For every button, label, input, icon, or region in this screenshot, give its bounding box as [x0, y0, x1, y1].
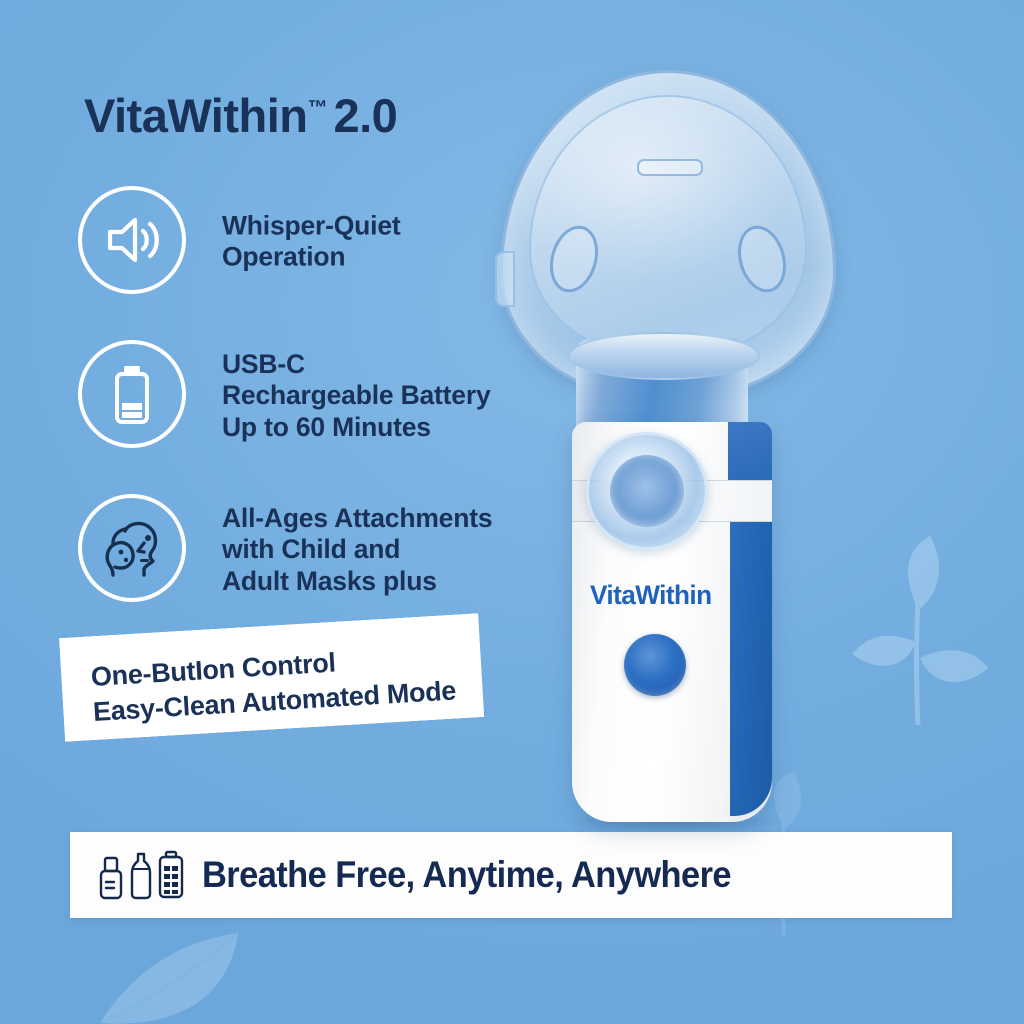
- page-title: VitaWithin™2.0: [84, 92, 397, 139]
- version-number: 2.0: [333, 89, 397, 142]
- battery-icon: [107, 363, 157, 425]
- ribbon-banner: One-ButIon Control Easy-Clean Automated …: [62, 628, 492, 758]
- trademark-symbol: ™: [307, 97, 327, 119]
- feature-icon-circle: [78, 340, 186, 448]
- product-logo: VitaWithin: [590, 580, 755, 611]
- feature-item-attachments: All-Ages Attachments with Child and Adul…: [78, 494, 518, 606]
- mask-side-tab: [495, 251, 515, 307]
- tagline-icon-group: [98, 850, 184, 900]
- feature-list: Whisper-Quiet Operation USB-C Rechargeab…: [78, 186, 518, 606]
- leaf-watermark-left: [90, 905, 300, 1024]
- tagline-bar: Breathe Free, Anytime, Anywhere: [70, 832, 952, 918]
- mask-slot-vent: [637, 159, 703, 176]
- device-body: VitaWithin: [572, 422, 772, 822]
- tagline-text: Breathe Free, Anytime, Anywhere: [202, 854, 731, 896]
- feature-item-whisper-quiet: Whisper-Quiet Operation: [78, 186, 518, 298]
- mask-inner-rim: [529, 95, 807, 353]
- body-accent-stripe: [730, 494, 772, 816]
- inhaler-device-icon: [98, 856, 124, 900]
- faces-adult-child-icon: [99, 519, 165, 577]
- bottle-icon: [129, 852, 153, 900]
- feature-icon-circle: [78, 186, 186, 294]
- chamber-rim: [568, 332, 760, 380]
- power-button[interactable]: [624, 634, 686, 696]
- feature-icon-circle: [78, 494, 186, 602]
- feature-item-battery: USB-C Rechargeable Battery Up to 60 Minu…: [78, 340, 518, 452]
- product-image-nebulizer: VitaWithin: [480, 70, 880, 830]
- knob-core: [610, 455, 684, 527]
- speaker-sound-icon: [102, 213, 162, 267]
- battery-level-icon: [158, 850, 184, 900]
- nebulizer-knob-cap: [586, 432, 708, 550]
- infographic-canvas: VitaWithin™2.0 Whisper-Quiet Operation: [0, 0, 1024, 1024]
- brand-name: VitaWithin: [84, 89, 307, 142]
